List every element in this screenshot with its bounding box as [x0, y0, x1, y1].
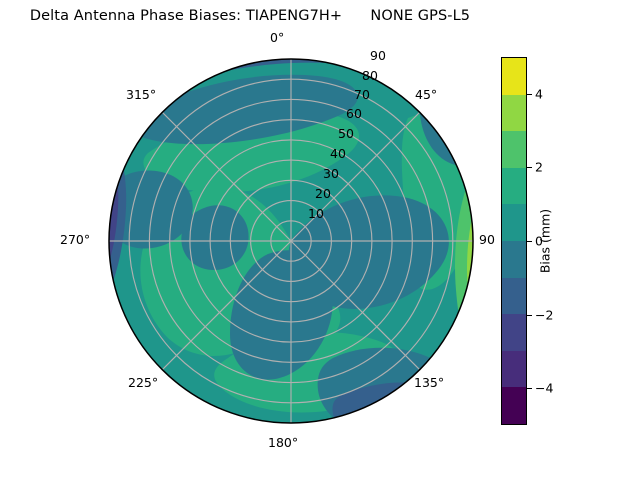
colorbar-band-m2tom1	[502, 278, 526, 315]
radial-tick-50: 50	[338, 126, 354, 141]
page-title: Delta Antenna Phase Biases: TIAPENG7H+ N…	[0, 8, 500, 24]
colorbar-band-1to2	[502, 168, 526, 205]
polar-grid	[109, 59, 473, 423]
colorbar-ticklabel-4: 4	[535, 86, 543, 101]
radial-tick-40: 40	[330, 146, 346, 161]
azimuth-tick-90: 90	[479, 232, 495, 247]
colorbar-band-m1to0	[502, 241, 526, 278]
figure-canvas: Delta Antenna Phase Biases: TIAPENG7H+ N…	[0, 0, 640, 480]
contour-band-m3tom2	[362, 400, 474, 424]
azimuth-tick-315: 315°	[126, 87, 156, 102]
colorbar-tick-m2	[527, 315, 532, 316]
radial-tick-20: 20	[315, 186, 331, 201]
colorbar-tick-4	[527, 94, 532, 95]
azimuth-tick-180: 180°	[268, 435, 298, 450]
colorbar-band-m5tom4	[502, 387, 526, 424]
azimuth-tick-0: 0°	[270, 30, 284, 45]
radial-tick-90: 90	[370, 48, 386, 63]
colorbar-tick-m4	[527, 388, 532, 389]
polar-axes[interactable]: 10 20 30 40 50 60 70 80 90	[108, 58, 474, 424]
radial-tick-80: 80	[362, 68, 378, 83]
colorbar-gradient-strip	[501, 57, 527, 425]
azimuth-tick-45: 45°	[415, 87, 437, 102]
azimuth-tick-225: 225°	[128, 375, 158, 390]
colorbar-band-0to1	[502, 204, 526, 241]
colorbar-ticklabel-2: 2	[535, 160, 543, 175]
colorbar-ticklabel-m2: −2	[535, 307, 553, 322]
colorbar-band-2to3	[502, 131, 526, 168]
colorbar-band-3to4	[502, 95, 526, 132]
colorbar-band-m3tom2	[502, 314, 526, 351]
azimuth-tick-270: 270°	[60, 232, 90, 247]
colorbar-ticklabel-m4: −4	[535, 381, 553, 396]
colorbar[interactable]: 4 2 0 −2 −4	[501, 57, 527, 425]
colorbar-tick-0	[527, 241, 532, 242]
azimuth-tick-135: 135°	[414, 375, 444, 390]
colorbar-band-m4tom3	[502, 351, 526, 388]
radial-tick-60: 60	[346, 106, 362, 121]
polar-contour-plot	[108, 58, 474, 424]
radial-tick-30: 30	[323, 166, 339, 181]
colorbar-tick-2	[527, 167, 532, 168]
colorbar-band-4to5	[502, 58, 526, 95]
colorbar-axis-label: Bias (mm)	[538, 209, 553, 273]
radial-tick-70: 70	[354, 87, 370, 102]
radial-tick-10: 10	[308, 206, 324, 221]
contour-band-3to4	[467, 158, 474, 400]
